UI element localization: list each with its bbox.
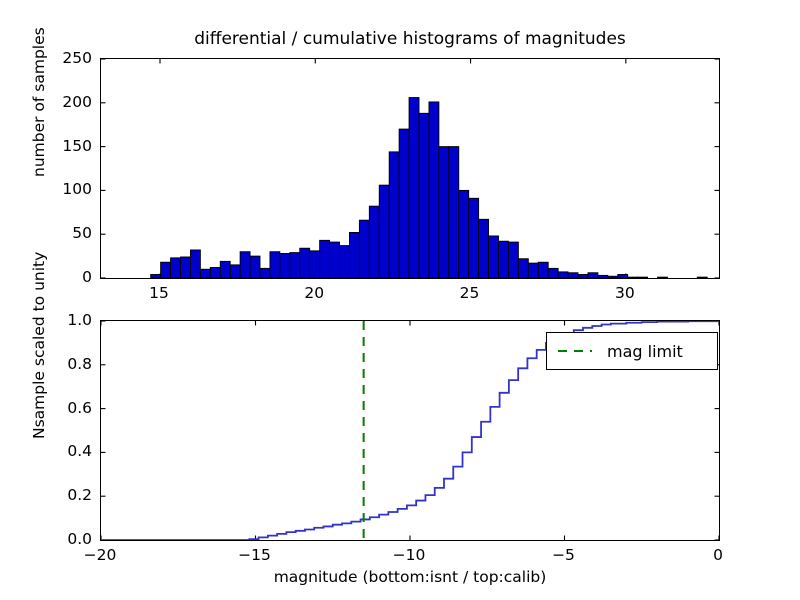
histogram-bar — [340, 246, 350, 278]
histogram-bar — [598, 275, 608, 278]
histogram-bar — [349, 232, 359, 278]
legend: mag limit — [546, 332, 718, 370]
histogram-bar — [449, 147, 459, 278]
histogram-bar — [499, 241, 509, 278]
bottom-y-tick-label-2: 0.4 — [0, 442, 92, 460]
histogram-bar — [240, 252, 250, 278]
histogram-bar — [250, 256, 260, 278]
histogram-bar — [528, 263, 538, 278]
bottom-x-tick-label-4: 0 — [713, 546, 723, 564]
histogram-bar — [161, 262, 171, 278]
bottom-x-tick-label-1: −15 — [238, 546, 271, 564]
histogram-bar — [290, 253, 300, 278]
histogram-bar — [379, 185, 389, 278]
histogram-bar — [578, 274, 588, 278]
histogram-bar — [618, 274, 628, 278]
histogram-bar — [608, 276, 618, 278]
mag-limit-line-icon — [557, 345, 593, 357]
top-y-tick-label-4: 200 — [0, 93, 92, 111]
histogram-bar — [280, 253, 290, 278]
histogram-bar — [459, 190, 469, 278]
histogram-bar — [409, 98, 419, 278]
bottom-x-tick-label-0: −20 — [84, 546, 117, 564]
bottom-y-tick-label-5: 1.0 — [0, 311, 92, 329]
histogram-bar — [548, 268, 558, 278]
differential-histogram-plot — [101, 59, 719, 278]
x-axis-label: magnitude (bottom:isnt / top:calib) — [274, 568, 547, 586]
top-y-tick-label-5: 250 — [0, 49, 92, 67]
histogram-bar — [369, 206, 379, 278]
histogram-bar — [230, 265, 240, 278]
top-x-tick-label-1: 20 — [304, 284, 324, 302]
histogram-bar — [658, 277, 668, 278]
histogram-bar — [210, 267, 220, 278]
top-y-tick-label-0: 0 — [0, 268, 92, 286]
histogram-bar — [310, 251, 320, 278]
histogram-bars — [151, 98, 708, 278]
histogram-bar — [359, 220, 369, 278]
figure-canvas: differential / cumulative histograms of … — [0, 0, 800, 600]
histogram-bar — [300, 248, 310, 278]
histogram-bar — [508, 242, 518, 278]
histogram-bar — [190, 250, 200, 278]
histogram-bar — [489, 236, 499, 278]
histogram-bar — [200, 269, 210, 278]
histogram-bar — [399, 129, 409, 278]
bottom-y-tick-label-1: 0.2 — [0, 486, 92, 504]
histogram-bar — [439, 147, 449, 278]
histogram-bar — [181, 257, 191, 278]
histogram-bar — [479, 219, 489, 278]
top-x-tick-label-3: 30 — [615, 284, 635, 302]
histogram-bar — [538, 262, 548, 278]
histogram-bar — [320, 240, 330, 278]
bottom-x-tick-label-3: −5 — [552, 546, 575, 564]
histogram-bar — [518, 259, 528, 278]
top-y-tick-label-2: 100 — [0, 180, 92, 198]
top-x-tick-label-0: 15 — [149, 284, 169, 302]
histogram-bar — [270, 252, 280, 278]
histogram-bar — [697, 277, 707, 278]
bottom-y-tick-label-4: 0.8 — [0, 355, 92, 373]
top-x-tick-label-2: 25 — [460, 284, 480, 302]
bottom-y-tick-label-0: 0.0 — [0, 530, 92, 548]
histogram-bar — [638, 277, 648, 278]
histogram-bar — [220, 261, 230, 278]
legend-label-mag-limit: mag limit — [607, 342, 683, 361]
histogram-bar — [171, 258, 181, 278]
histogram-bar — [628, 277, 638, 278]
top-y-tick-label-1: 50 — [0, 224, 92, 242]
bottom-x-tick-label-2: −10 — [393, 546, 426, 564]
histogram-bar — [469, 198, 479, 278]
histogram-bar — [419, 113, 429, 278]
histogram-bar — [588, 273, 598, 278]
histogram-bar — [389, 152, 399, 278]
histogram-bar — [260, 268, 270, 278]
top-axes-differential-histogram — [100, 58, 720, 279]
bottom-y-tick-label-3: 0.6 — [0, 399, 92, 417]
histogram-bar — [330, 242, 340, 278]
histogram-bar — [151, 274, 161, 278]
top-y-tick-label-3: 150 — [0, 137, 92, 155]
histogram-bar — [429, 102, 439, 278]
page-title: differential / cumulative histograms of … — [194, 29, 626, 49]
histogram-bar — [568, 273, 578, 278]
histogram-bar — [558, 272, 568, 278]
